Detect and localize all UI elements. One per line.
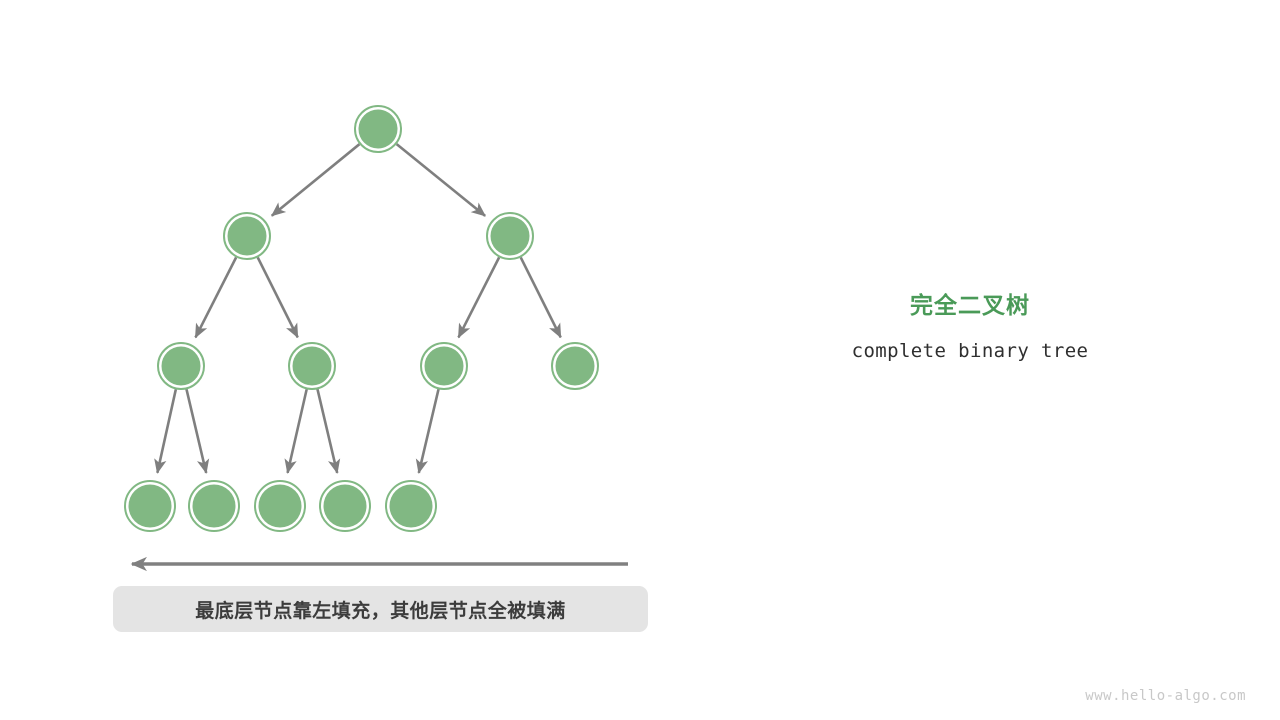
tree-node-core <box>193 485 236 528</box>
tree-node-core <box>293 347 332 386</box>
tree-edge <box>187 389 207 473</box>
tree-node <box>421 343 467 389</box>
tree-edge <box>157 389 175 472</box>
diagram-title: 完全二叉树 <box>760 288 1180 322</box>
tree-node-core <box>129 485 172 528</box>
tree-node <box>320 481 370 531</box>
watermark: www.hello-algo.com <box>1085 688 1246 704</box>
tree-node <box>255 481 305 531</box>
tree-node <box>355 106 401 152</box>
tree-node-core <box>491 217 530 256</box>
tree-node <box>125 481 175 531</box>
tree-node <box>189 481 239 531</box>
tree-node <box>289 343 335 389</box>
tree-edge-layer <box>157 144 560 473</box>
tree-node-core <box>390 485 433 528</box>
tree-node <box>487 213 533 259</box>
tree-node-core <box>259 485 302 528</box>
tree-node-layer <box>125 106 598 531</box>
tree-edge <box>258 257 298 337</box>
tree-edge <box>397 144 485 216</box>
tree-node-core <box>556 347 595 386</box>
tree-edge <box>318 389 338 473</box>
tree-node-core <box>228 217 267 256</box>
caption-text: 最底层节点靠左填充，其他层节点全被填满 <box>195 596 566 623</box>
tree-node <box>158 343 204 389</box>
tree-edge <box>419 389 439 473</box>
diagram-subtitle: complete binary tree <box>760 340 1180 362</box>
tree-edge <box>521 257 561 337</box>
tree-node <box>386 481 436 531</box>
tree-edge <box>272 144 360 216</box>
tree-edge <box>195 257 236 337</box>
legend-block: 完全二叉树 complete binary tree <box>760 288 1180 362</box>
caption-box: 最底层节点靠左填充，其他层节点全被填满 <box>113 586 648 632</box>
tree-node <box>552 343 598 389</box>
tree-node-core <box>162 347 201 386</box>
tree-edge <box>288 389 307 472</box>
tree-node <box>224 213 270 259</box>
tree-node-core <box>425 347 464 386</box>
tree-node-core <box>324 485 367 528</box>
tree-edge <box>458 257 499 337</box>
tree-node-core <box>359 110 398 149</box>
